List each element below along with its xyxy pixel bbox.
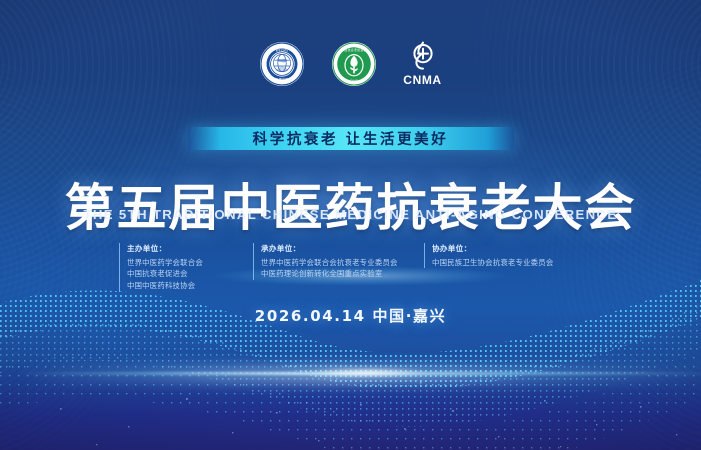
organizer-column-host: 主办单位： 世界中医药学会联合会 中国抗衰老促进会 中国中医药科技协会 — [119, 243, 253, 292]
svg-text:WFCMS: WFCMS — [276, 48, 289, 52]
organizer-entry: 中医药理论创新转化全国重点实验室 — [261, 268, 424, 280]
svg-text:世界中联: 世界中联 — [276, 76, 289, 81]
date-location-line: 2026.04.14 中国·嘉兴 — [0, 305, 701, 326]
green-tcm-logo: 中国抗衰老促进会 CAAP — [331, 41, 377, 87]
cnma-logo-label: CNMA — [403, 73, 441, 87]
svg-text:中国抗衰老促进会: 中国抗衰老促进会 — [342, 46, 368, 51]
wfcms-logo: WFCMS 世界中联 — [259, 41, 305, 87]
organizer-entry: 世界中医药学会联合会 — [127, 257, 253, 269]
cnma-logo: CNMA — [403, 40, 441, 87]
light-streak — [14, 372, 701, 375]
light-streak-glow — [14, 366, 701, 383]
organizer-entry: 中国民族卫生协会抗衰老专业委员会 — [432, 257, 582, 269]
svg-text:CAAP: CAAP — [350, 78, 358, 82]
logo-row: WFCMS 世界中联 中国抗衰老促进会 CAAP — [0, 40, 701, 87]
organizer-block: 主办单位： 世界中医药学会联合会 中国抗衰老促进会 中国中医药科技协会 承办单位… — [0, 243, 701, 292]
tagline-text: 科学抗衰老 让生活更美好 — [253, 128, 449, 149]
organizer-heading: 承办单位： — [261, 243, 424, 254]
organizer-entry: 中国中医药科技协会 — [127, 280, 253, 292]
light-streak-core — [308, 368, 428, 377]
organizer-column-undertaker: 承办单位： 世界中医药学会联合会抗衰老专业委员会 中医药理论创新转化全国重点实验… — [253, 243, 424, 280]
organizer-entry: 世界中医药学会联合会抗衰老专业委员会 — [261, 257, 424, 269]
conference-poster: WFCMS 世界中联 中国抗衰老促进会 CAAP — [0, 0, 701, 450]
page-subtitle: THE 5TH TRADITIONAL CHINESE MEDICINE ANT… — [0, 207, 701, 222]
organizer-heading: 协办单位： — [432, 243, 582, 254]
tagline-banner: 科学抗衰老 让生活更美好 — [188, 127, 514, 150]
organizer-entry: 中国抗衰老促进会 — [127, 268, 253, 280]
organizer-heading: 主办单位： — [127, 243, 253, 254]
organizer-column-coorganizer: 协办单位： 中国民族卫生协会抗衰老专业委员会 — [424, 243, 582, 268]
